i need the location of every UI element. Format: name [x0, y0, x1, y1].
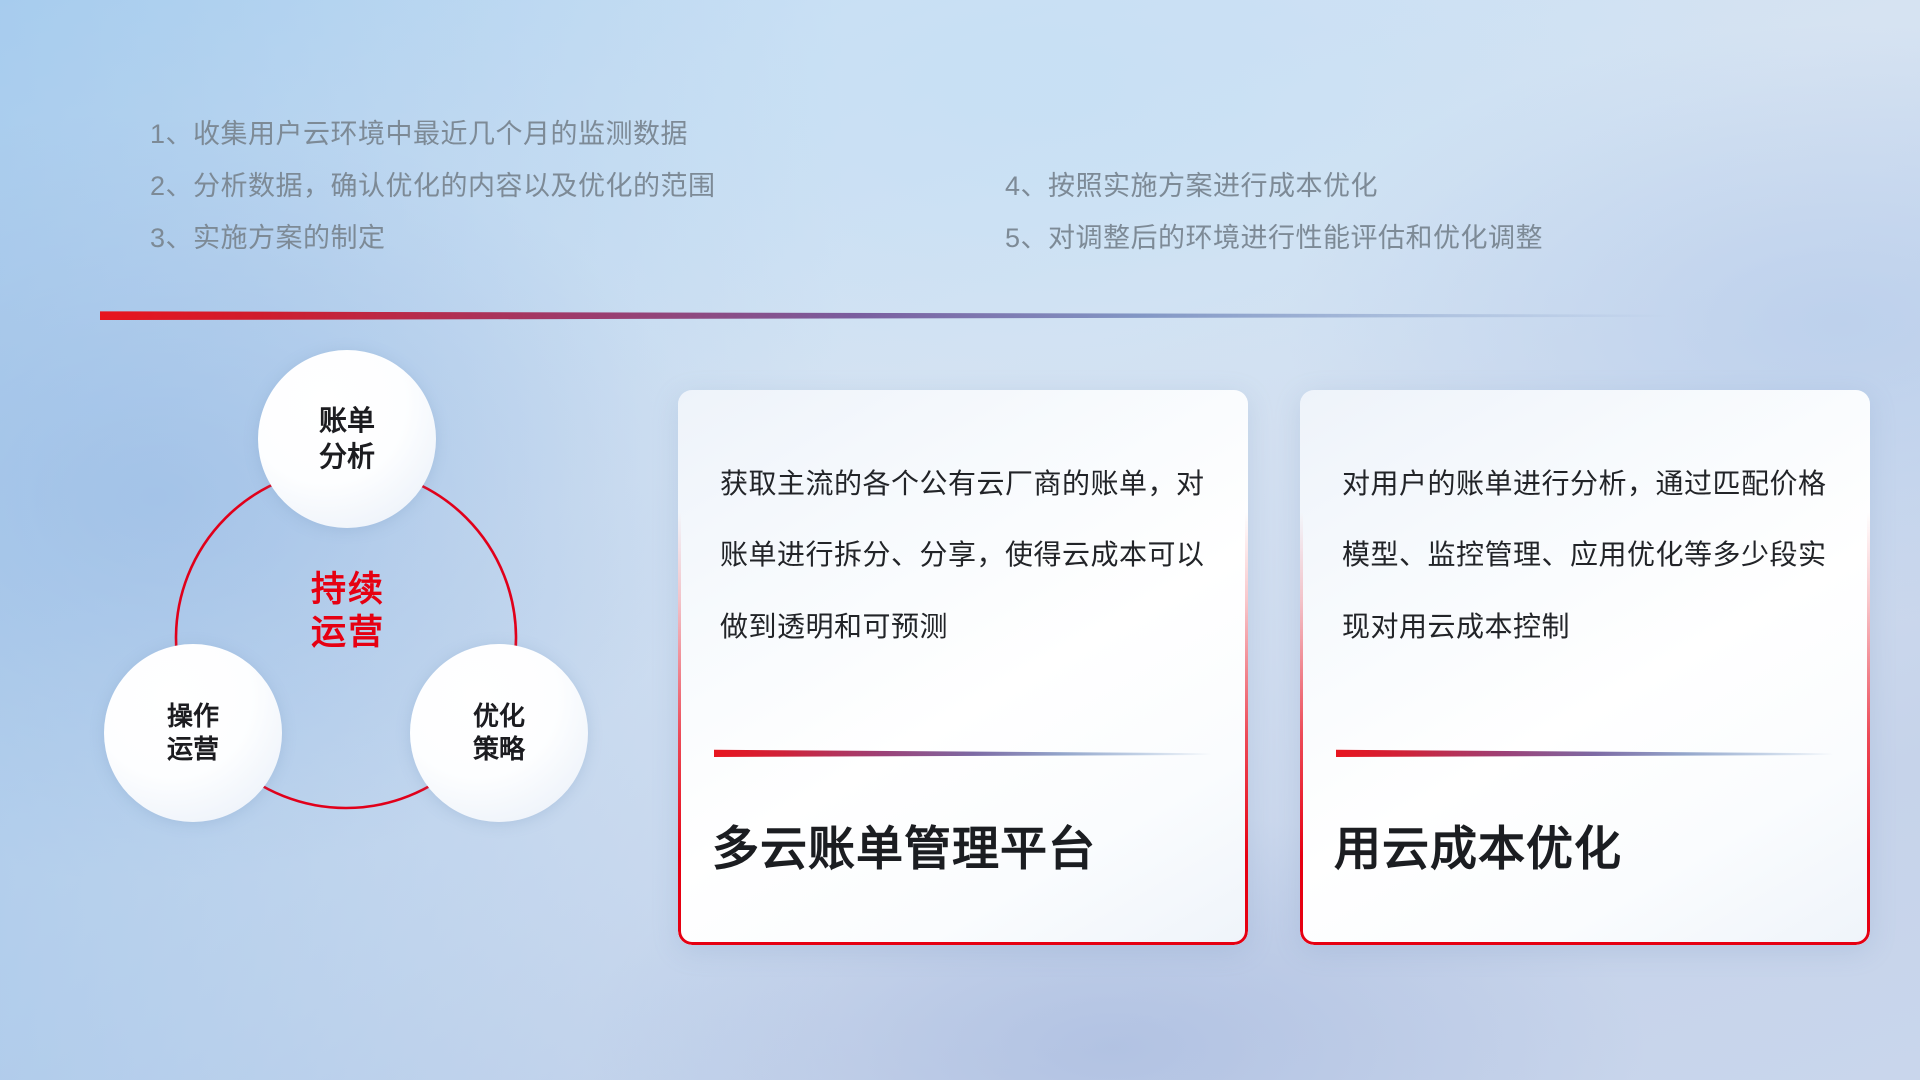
card-divider-rule — [714, 748, 1212, 757]
step-item-4: 4、按照实施方案进行成本优化 — [1005, 160, 1543, 212]
lobe-label-line2: 分析 — [319, 439, 375, 475]
feature-card-multicloud-billing[interactable]: 获取主流的各个公有云厂商的账单，对账单进行拆分、分享，使得云成本可以做到透明和可… — [678, 390, 1248, 945]
continuous-operation-diagram: 账单 分析 操作 运营 优化 策略 持续 运营 — [100, 352, 660, 952]
lobe-label-line2: 策略 — [473, 733, 525, 766]
step-list-left: 1、收集用户云环境中最近几个月的监测数据 2、分析数据，确认优化的内容以及优化的… — [150, 108, 716, 264]
step-item-1: 1、收集用户云环境中最近几个月的监测数据 — [150, 108, 716, 160]
step-list-right: 4、按照实施方案进行成本优化 5、对调整后的环境进行性能评估和优化调整 — [1005, 160, 1543, 264]
card-body-text: 对用户的账单进行分析，通过匹配价格模型、监控管理、应用优化等多少段实现对用云成本… — [1342, 448, 1842, 662]
diagram-lobe-billing-analysis[interactable]: 账单 分析 — [258, 350, 436, 528]
lobe-label-line1: 操作 — [167, 700, 219, 733]
lobe-label-line2: 运营 — [167, 733, 219, 766]
card-divider-rule — [1336, 748, 1834, 757]
diagram-center-label: 持续 运营 — [248, 552, 448, 672]
step-item-3: 3、实施方案的制定 — [150, 212, 716, 264]
lobe-label-line1: 账单 — [319, 403, 375, 439]
lobe-label-line1: 优化 — [473, 700, 525, 733]
card-title: 用云成本优化 — [1334, 810, 1850, 879]
feature-card-cloud-cost-optimization[interactable]: 对用户的账单进行分析，通过匹配价格模型、监控管理、应用优化等多少段实现对用云成本… — [1300, 390, 1870, 945]
step-item-5: 5、对调整后的环境进行性能评估和优化调整 — [1005, 212, 1543, 264]
card-title: 多云账单管理平台 — [712, 810, 1228, 879]
center-label-line1: 持续 — [311, 569, 385, 612]
step-item-2: 2、分析数据，确认优化的内容以及优化的范围 — [150, 160, 716, 212]
center-label-line2: 运营 — [311, 612, 385, 655]
card-body-text: 获取主流的各个公有云厂商的账单，对账单进行拆分、分享，使得云成本可以做到透明和可… — [720, 448, 1220, 662]
